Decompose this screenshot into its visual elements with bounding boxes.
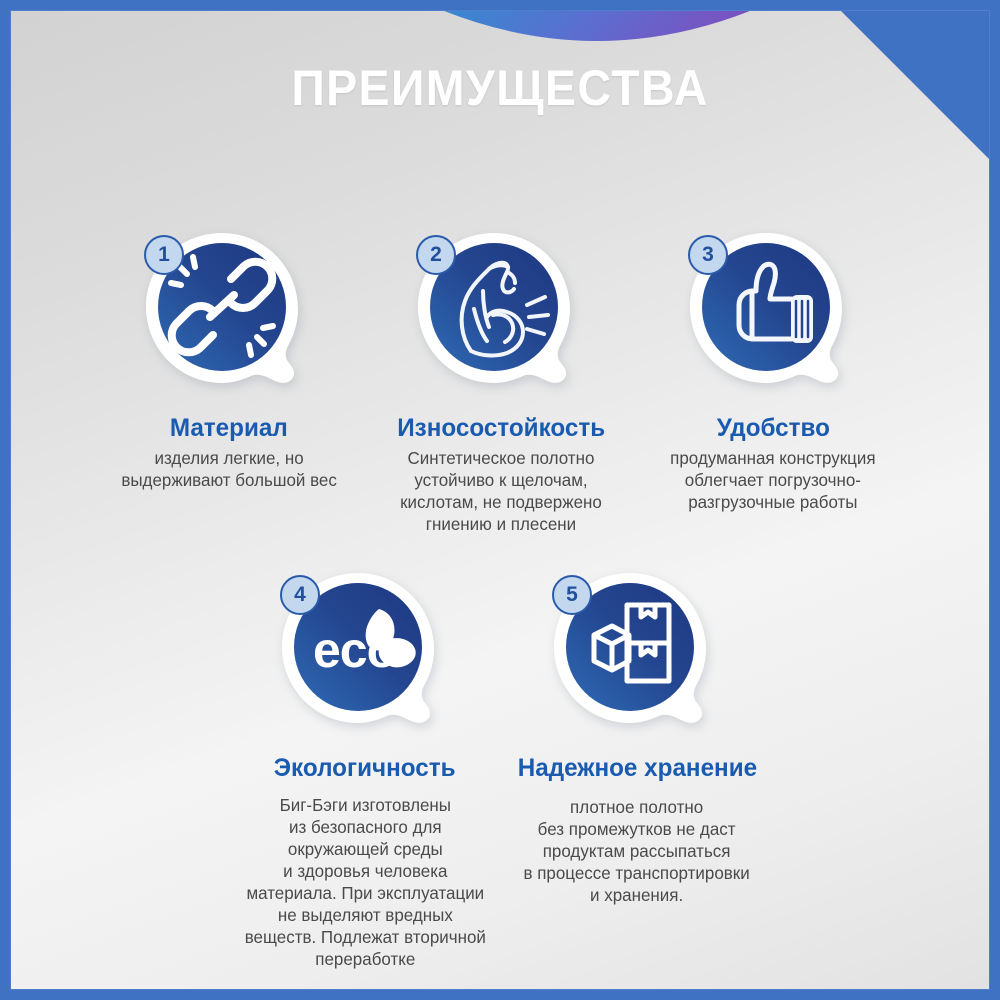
- benefits-row-1: 1 Материал изделия легкие, но выдерживаю…: [11, 229, 990, 535]
- benefit-description: изделия легкие, но выдерживают большой в…: [121, 447, 337, 491]
- badge-number: 2: [416, 235, 456, 275]
- benefit-title: Удобство: [716, 414, 829, 442]
- bubble-icon-wrapper: 3: [683, 229, 863, 404]
- benefit-title: Надежное хранение: [517, 754, 756, 782]
- benefit-description: Синтетическое полотно устойчиво к щелоча…: [400, 447, 602, 535]
- poster-canvas: ПРЕИМУЩЕСТВА: [10, 10, 990, 990]
- bubble-icon-wrapper: 5: [547, 569, 727, 744]
- benefit-description: продуманная конструкция облегчает погруз…: [670, 447, 875, 513]
- badge-number: 4: [280, 575, 320, 615]
- benefit-card-convenience[interactable]: 3 Удобство продуманная конструкция облег…: [637, 229, 909, 535]
- benefit-title: Износостойкость: [397, 414, 605, 442]
- page-title: ПРЕИМУЩЕСТВА: [45, 59, 955, 117]
- benefit-description: плотное полотно без промежутков не даст …: [524, 796, 750, 906]
- poster-frame: ПРЕИМУЩЕСТВА: [0, 0, 1000, 1000]
- benefit-description: Биг-Бэги изготовлены из безопасного для …: [244, 794, 485, 970]
- badge-number: 5: [552, 575, 592, 615]
- benefits-row-2: eco 4 Экологичность Биг-Бэги изготовлены…: [11, 569, 990, 970]
- badge-number: 1: [144, 235, 184, 275]
- bubble-icon-wrapper: eco 4: [275, 569, 455, 744]
- benefit-card-eco[interactable]: eco 4 Экологичность Биг-Бэги изготовлены…: [229, 569, 501, 970]
- benefit-title: Экологичность: [274, 754, 456, 782]
- bubble-icon-wrapper: 2: [411, 229, 591, 404]
- benefit-card-material[interactable]: 1 Материал изделия легкие, но выдерживаю…: [93, 229, 365, 535]
- benefit-card-storage[interactable]: 5 Надежное хранение плотное полотно без …: [501, 569, 773, 970]
- badge-number: 3: [688, 235, 728, 275]
- bubble-icon-wrapper: 1: [139, 229, 319, 404]
- benefit-title: Материал: [170, 414, 288, 442]
- benefit-card-wear-resistance[interactable]: 2 Износостойкость Синтетическое полотно …: [365, 229, 637, 535]
